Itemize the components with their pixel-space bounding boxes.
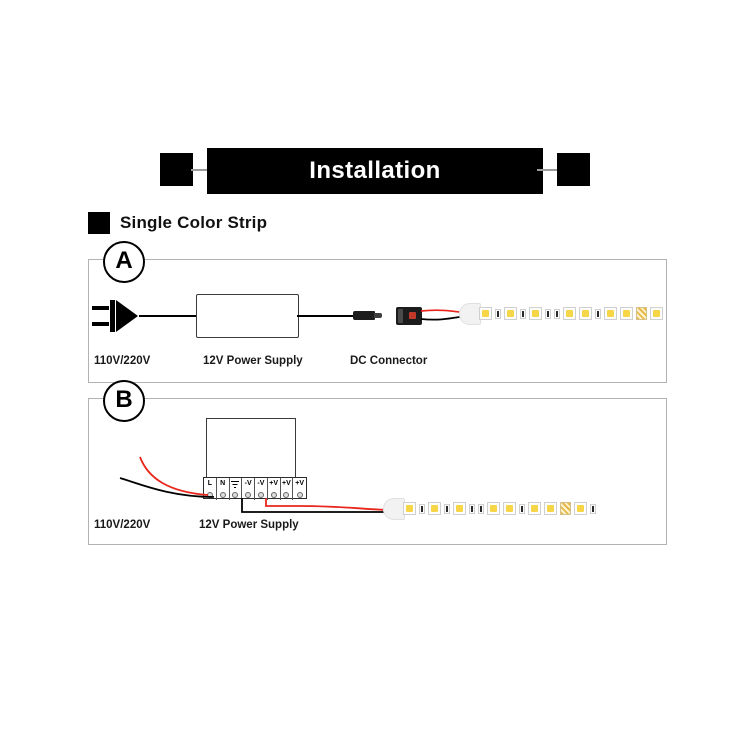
strip-resistor xyxy=(595,309,601,319)
banner-bar: Installation xyxy=(207,148,543,194)
ac-cord-a xyxy=(139,315,197,317)
caption-voltage-b: 110V/220V xyxy=(94,519,150,531)
ground-symbol-icon xyxy=(231,481,239,488)
terminal-label: N xyxy=(220,478,225,490)
caption-power-supply-a: 12V Power Supply xyxy=(203,355,303,367)
plug-prong-top-a xyxy=(92,306,109,310)
strip-end-cap-b xyxy=(383,498,405,520)
strip-resistor xyxy=(469,504,475,514)
terminal-screw xyxy=(258,492,264,498)
panel-a-badge: A xyxy=(103,241,145,283)
terminal-minus-v-3: -V xyxy=(242,478,255,500)
caption-dc-connector-a: DC Connector xyxy=(350,355,427,367)
led-chip xyxy=(529,307,542,320)
terminal-l-0: L xyxy=(204,478,217,500)
led-chip xyxy=(503,502,516,515)
dc-connector-female xyxy=(396,307,422,325)
section-bullet-square xyxy=(88,212,110,234)
strip-resistor xyxy=(590,504,596,514)
terminal-screw xyxy=(232,492,238,498)
terminal-label: +V xyxy=(282,478,291,490)
terminal-ground-2 xyxy=(230,478,243,500)
strip-resistor xyxy=(444,504,450,514)
terminal-plusminus-v-6: +V xyxy=(281,478,294,500)
dc-connector-male xyxy=(353,307,385,325)
terminal-plusminus-v-5: +V xyxy=(268,478,281,500)
terminal-n-1: N xyxy=(217,478,230,500)
terminal-minus-v-4: -V xyxy=(255,478,268,500)
strip-cut-mark xyxy=(560,502,571,515)
led-chip xyxy=(403,502,416,515)
terminal-label: L xyxy=(208,478,212,490)
strip-resistor xyxy=(519,504,525,514)
terminal-label: -V xyxy=(257,478,264,490)
ac-plug-a xyxy=(92,300,140,332)
page-title: Installation xyxy=(207,148,543,194)
dc-female-ring xyxy=(398,309,403,323)
led-chip xyxy=(544,502,557,515)
section-heading: Single Color Strip xyxy=(88,212,267,234)
led-chip xyxy=(487,502,500,515)
plug-prong-bottom-a xyxy=(92,322,109,326)
plug-bar-a xyxy=(110,300,115,332)
terminal-label: -V xyxy=(245,478,252,490)
strip-resistor xyxy=(419,504,425,514)
dc-male-shaft xyxy=(353,311,375,320)
led-chip xyxy=(428,502,441,515)
strip-end-cap-a xyxy=(459,303,481,325)
dc-female-indicator xyxy=(409,312,416,319)
section-title: Single Color Strip xyxy=(120,213,267,233)
banner-cap-left xyxy=(160,153,193,186)
strip-resistor xyxy=(478,504,484,514)
led-chip xyxy=(504,307,517,320)
led-chip xyxy=(579,307,592,320)
banner-cap-right xyxy=(557,153,590,186)
caption-voltage-a: 110V/220V xyxy=(94,355,150,367)
strip-cut-mark xyxy=(636,307,647,320)
dc-cord-a xyxy=(297,315,357,317)
strip-resistor xyxy=(520,309,526,319)
panel-b: B xyxy=(88,398,667,545)
power-supply-a xyxy=(196,294,299,338)
caption-power-supply-b: 12V Power Supply xyxy=(199,519,299,531)
led-strip-b xyxy=(383,498,603,520)
terminal-screw xyxy=(207,492,213,498)
strip-resistor xyxy=(554,309,560,319)
terminal-label: +V xyxy=(295,478,304,490)
led-chip xyxy=(650,307,663,320)
installation-banner: Installation xyxy=(160,148,590,194)
banner-connector-right xyxy=(537,169,559,171)
terminal-label: +V xyxy=(269,478,278,490)
led-strip-a xyxy=(459,303,670,325)
led-chip xyxy=(620,307,633,320)
terminal-screw xyxy=(245,492,251,498)
panel-b-badge: B xyxy=(103,380,145,422)
dc-male-tip xyxy=(374,313,382,318)
terminal-plusminus-v-7: +V xyxy=(293,478,306,500)
terminal-screw xyxy=(297,492,303,498)
strip-resistor xyxy=(495,309,501,319)
strip-resistor xyxy=(545,309,551,319)
led-chip xyxy=(563,307,576,320)
terminal-screw xyxy=(271,492,277,498)
led-chip xyxy=(479,307,492,320)
terminal-screw xyxy=(283,492,289,498)
led-chip xyxy=(453,502,466,515)
terminal-block: LN-V-V+V+V+V xyxy=(203,477,307,499)
plug-body-a xyxy=(116,300,138,332)
terminal-screw xyxy=(220,492,226,498)
led-chip xyxy=(604,307,617,320)
led-chip xyxy=(528,502,541,515)
led-chip xyxy=(574,502,587,515)
